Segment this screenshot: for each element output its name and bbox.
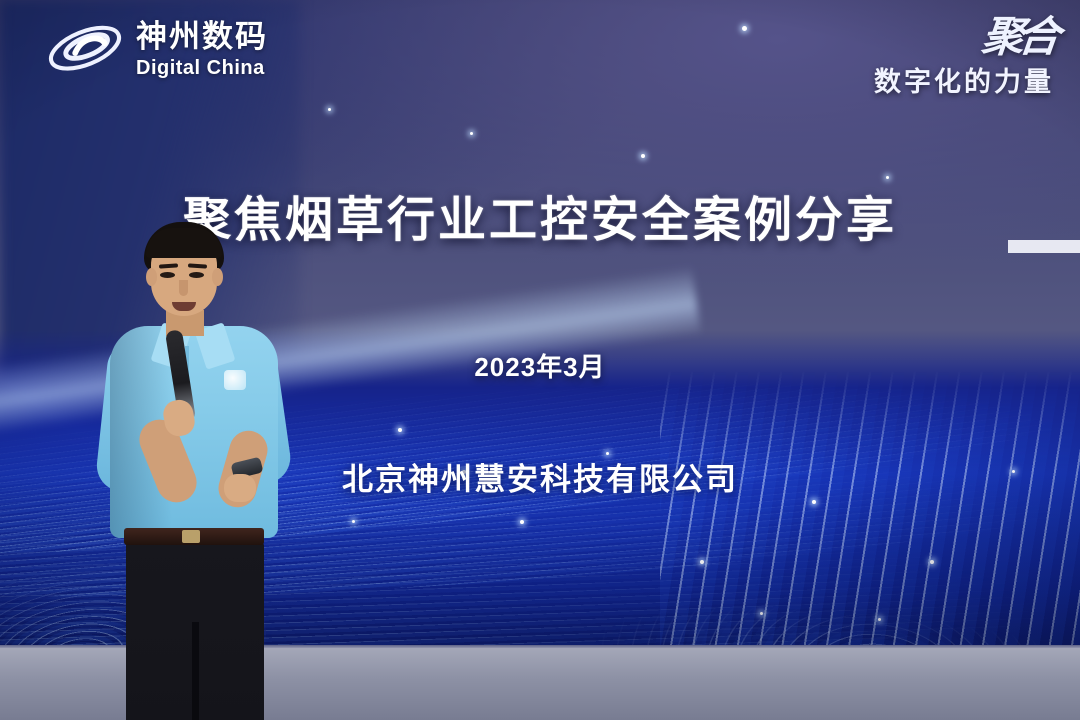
speaker-belt-buckle (182, 530, 200, 543)
foreground-table-group (0, 586, 320, 720)
digital-china-name-en: Digital China (136, 58, 268, 78)
event-logo-calligraphy: 聚合 (872, 16, 1056, 58)
digital-china-swirl-icon (44, 18, 126, 80)
speaker-eye-right (189, 272, 204, 278)
speaker-eye-left (160, 272, 175, 278)
conference-stage-photo: 神州数码 Digital China 聚合 数字化的力量 聚焦烟草行业工控安全案… (0, 0, 1080, 720)
digital-china-name-cn: 神州数码 (136, 21, 268, 52)
speaker-ear-left (146, 268, 157, 286)
event-logo: 聚合 数字化的力量 (874, 16, 1054, 99)
speaker-ear-right (212, 268, 223, 286)
speaker-nose (179, 280, 188, 296)
speaker-hand-right (224, 474, 256, 502)
digital-china-logo: 神州数码 Digital China (44, 18, 268, 80)
digital-china-wordmark: 神州数码 Digital China (136, 21, 268, 78)
speaker-hair-front (146, 228, 222, 258)
event-logo-tagline: 数字化的力量 (874, 60, 1054, 99)
speaker-shirt-emblem (224, 370, 246, 390)
